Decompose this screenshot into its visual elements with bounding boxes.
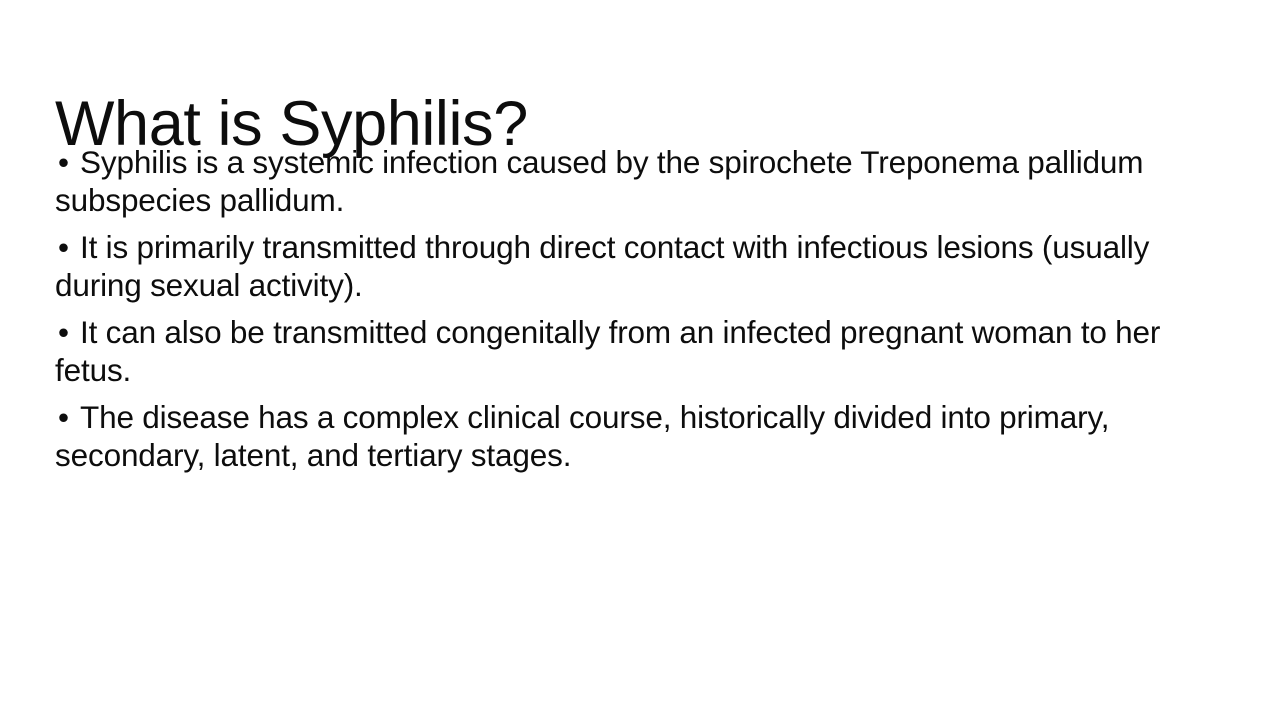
bullet-point-icon: • xyxy=(58,398,80,436)
bullet-list-item: •The disease has a complex clinical cour… xyxy=(55,398,1220,474)
bullet-text: It is primarily transmitted through dire… xyxy=(55,229,1149,303)
bullet-list-item: •Syphilis is a systemic infection caused… xyxy=(55,143,1220,219)
slide-body-text-box[interactable]: •Syphilis is a systemic infection caused… xyxy=(55,143,1220,474)
bullet-point-icon: • xyxy=(58,313,80,351)
bullet-list-item: •It can also be transmitted congenitally… xyxy=(55,313,1220,389)
bullet-list-item: •It is primarily transmitted through dir… xyxy=(55,228,1220,304)
bullet-text: The disease has a complex clinical cours… xyxy=(55,399,1109,473)
bullet-point-icon: • xyxy=(58,228,80,266)
bullet-text: Syphilis is a systemic infection caused … xyxy=(55,144,1143,218)
presentation-slide: What is Syphilis? •Syphilis is a systemi… xyxy=(0,0,1280,720)
bullet-text: It can also be transmitted congenitally … xyxy=(55,314,1160,388)
bullet-point-icon: • xyxy=(58,143,80,181)
